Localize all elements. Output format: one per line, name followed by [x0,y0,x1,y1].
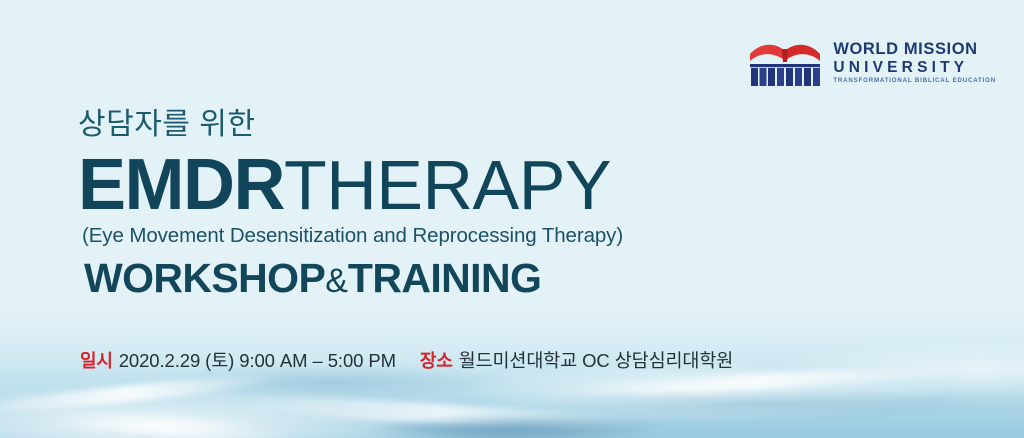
title-emdr: EMDR [78,145,284,225]
venue-label: 장소 [420,347,453,373]
headline-block: 상담자를 위한 EMDRTHERAPY (Eye Movement Desens… [78,106,778,301]
subtitle-workshop-training: WORKSHOP&TRAINING [84,256,778,301]
ripple-streak [0,369,290,419]
water-deep-pool [300,414,720,438]
ripple-streak [380,415,681,438]
ampersand: & [325,262,348,300]
event-details: 일시 2020.2.29 (토) 9:00 AM – 5:00 PM 장소 월드… [80,347,733,373]
open-book-icon [746,38,824,88]
kicker-text: 상담자를 위한 [78,106,778,144]
logo-line-world-mission: WORLD MISSION [833,41,996,58]
title-therapy: THERAPY [284,146,611,224]
university-logo: WORLD MISSION UNIVERSITY TRANSFORMATIONA… [746,38,996,88]
title-expansion: (Eye Movement Desensitization and Reproc… [82,224,778,249]
training-word: TRAINING [348,255,541,301]
venue-value: 월드미션대학교 OC 상담심리대학원 [459,347,734,373]
ripple-streak [230,393,650,435]
logo-wordmark: WORLD MISSION UNIVERSITY TRANSFORMATIONA… [833,41,996,84]
date-value: 2020.2.29 (토) 9:00 AM – 5:00 PM [119,347,396,373]
logo-tagline: TRANSFORMATIONAL BIBLICAL EDUCATION [833,77,996,84]
workshop-word: WORKSHOP [84,255,325,301]
page-title: EMDRTHERAPY [78,150,778,221]
ripple-streak [40,407,301,438]
date-label: 일시 [80,347,113,373]
event-poster: WORLD MISSION UNIVERSITY TRANSFORMATIONA… [0,0,1024,438]
logo-line-university: UNIVERSITY [833,59,996,77]
